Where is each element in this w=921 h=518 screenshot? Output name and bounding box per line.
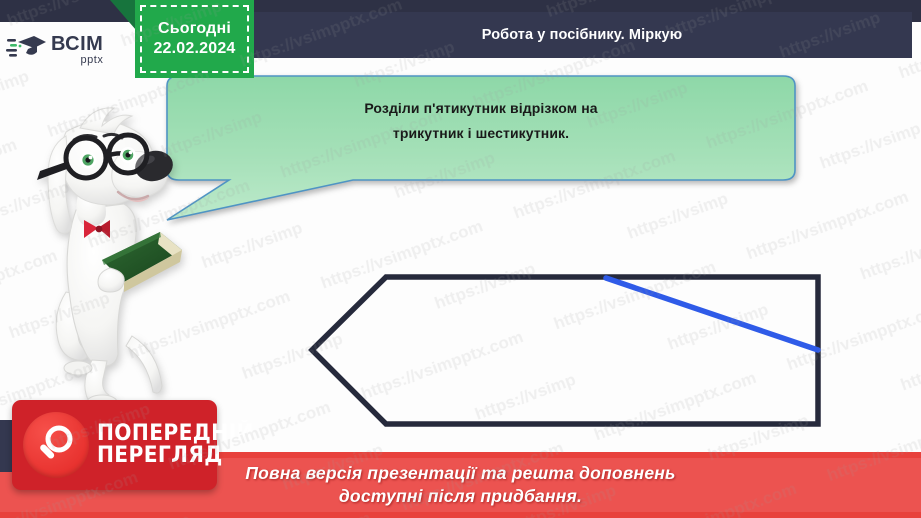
brand-logo[interactable]: ВСІМ pptx — [6, 28, 126, 72]
today-date: 22.02.2024 — [153, 40, 235, 58]
dog-mascot — [14, 92, 189, 412]
dividing-segment — [606, 278, 818, 350]
banner-line-1: Повна версія презентації та решта доповн… — [245, 462, 675, 485]
flag-fold — [110, 0, 136, 30]
preview-line-2: ПЕРЕГЛЯД — [97, 445, 254, 467]
dog-mascot-illustration — [14, 92, 189, 412]
speech-bubble-shape — [157, 74, 805, 222]
brand-lockup: ВСІМ pptx — [51, 34, 103, 66]
speech-bubble: Розділи п'ятикутник відрізком на трикутн… — [157, 74, 805, 222]
graduation-cap-icon — [6, 33, 46, 67]
pentagon-outline — [312, 277, 818, 424]
slide-title-bar: Робота у посібнику. Міркую — [252, 12, 912, 58]
preview-line-1: ПОПЕРЕДНІЙ — [97, 423, 254, 445]
banner-line-2: доступні після придбання. — [339, 485, 582, 508]
preview-badge-text: ПОПЕРЕДНІЙ ПЕРЕГЛЯД — [97, 423, 267, 468]
brand-name: ВСІМ — [51, 34, 103, 54]
brand-subtitle: pptx — [51, 55, 103, 66]
today-label: Сьогодні — [158, 20, 231, 38]
flag-body: Сьогодні 22.02.2024 — [135, 0, 254, 78]
magnifier-icon — [23, 412, 89, 478]
preview-badge[interactable]: ПОПЕРЕДНІЙ ПЕРЕГЛЯД — [12, 400, 217, 490]
today-date-flag: Сьогодні 22.02.2024 — [110, 0, 254, 82]
page-title: Робота у посібнику. Міркую — [482, 27, 682, 43]
slide-viewer: Розділи п'ятикутник відрізком на трикутн… — [0, 0, 921, 518]
